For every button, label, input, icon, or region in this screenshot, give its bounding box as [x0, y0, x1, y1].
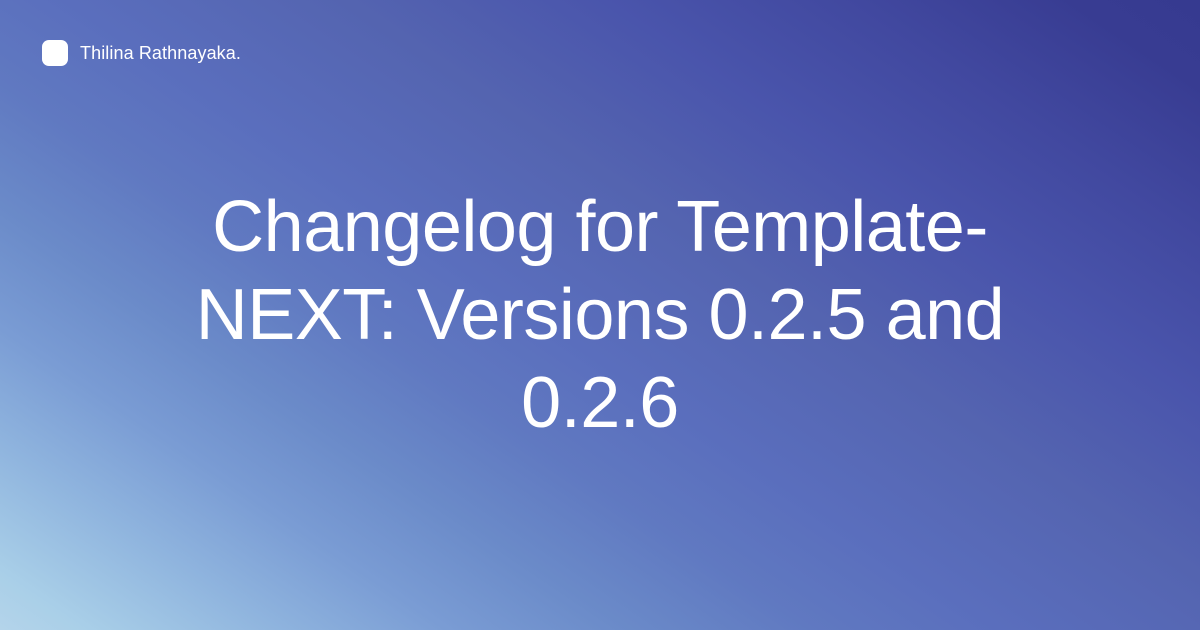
title-block: Changelog for Template- NEXT: Versions 0… — [0, 0, 1200, 630]
page-title-line-3: 0.2.6 — [140, 359, 1060, 447]
page-title: Changelog for Template- NEXT: Versions 0… — [140, 183, 1060, 447]
page-title-line-2: NEXT: Versions 0.2.5 and — [140, 271, 1060, 359]
open-graph-card: Thilina Rathnayaka. Changelog for Templa… — [0, 0, 1200, 630]
page-title-line-1: Changelog for Template- — [140, 183, 1060, 271]
